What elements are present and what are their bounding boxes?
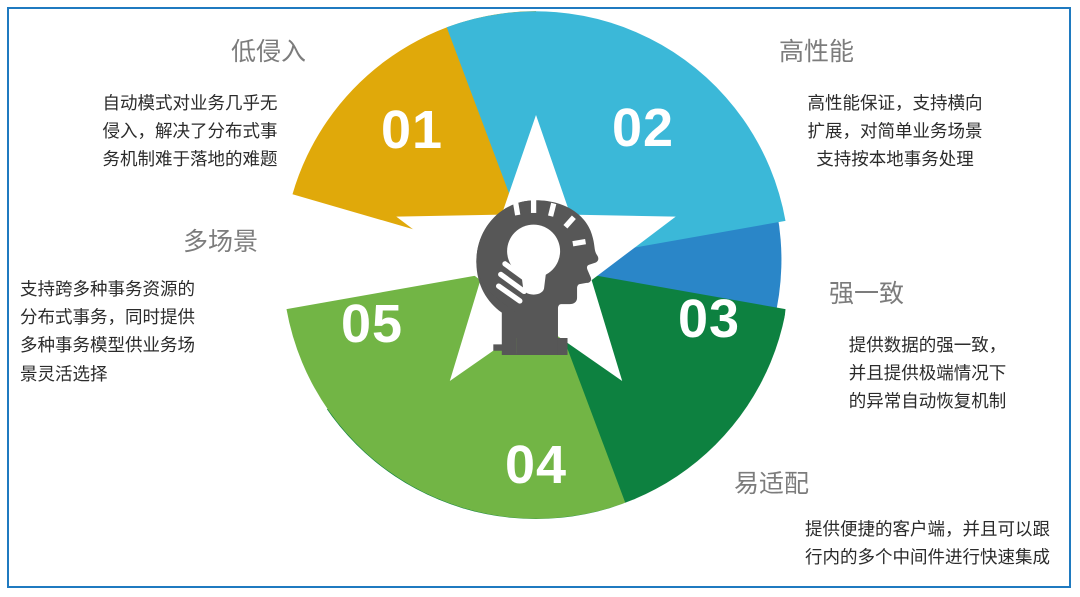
callout-body-low-intrusion: 自动模式对业务几乎无 侵入，解决了分布式事 务机制难于落地的难题	[40, 89, 340, 174]
callout-body-high-performance: 高性能保证，支持横向 扩展，对简单业务场景 支持按本地事务处理	[745, 89, 1045, 174]
wheel-number-01: 01	[381, 100, 443, 160]
callout-heading-easy-adaptation: 易适配	[700, 470, 1050, 499]
callout-body-strong-consistency: 提供数据的强一致， 并且提供极端情况下 的异常自动恢复机制	[795, 331, 1060, 416]
wheel-number-05: 05	[341, 294, 403, 354]
callout-heading-strong-consistency: 强一致	[795, 280, 1060, 309]
wheel-number-03: 03	[678, 289, 740, 349]
callout-heading-high-performance: 高性能	[745, 38, 1045, 67]
wheel-number-04: 04	[505, 435, 567, 495]
callout-body-easy-adaptation: 提供便捷的客户端，并且可以跟 行内的多个中间件进行快速集成	[700, 515, 1050, 572]
callout-low-intrusion: 低侵入 自动模式对业务几乎无 侵入，解决了分布式事 务机制难于落地的难题	[40, 38, 340, 174]
callout-easy-adaptation: 易适配 提供便捷的客户端，并且可以跟 行内的多个中间件进行快速集成	[700, 470, 1050, 571]
callout-body-multi-scenario: 支持跨多种事务资源的 分布式事务，同时提供 多种事务模型供业务场 景灵活选择	[20, 275, 292, 388]
wheel-number-02: 02	[612, 98, 674, 158]
callout-high-performance: 高性能 高性能保证，支持横向 扩展，对简单业务场景 支持按本地事务处理	[745, 38, 1045, 174]
callout-strong-consistency: 强一致 提供数据的强一致， 并且提供极端情况下 的异常自动恢复机制	[795, 280, 1060, 416]
callout-heading-low-intrusion: 低侵入	[40, 38, 340, 67]
callout-multi-scenario: 多场景 支持跨多种事务资源的 分布式事务，同时提供 多种事务模型供业务场 景灵活…	[20, 228, 292, 388]
infographic-stage: 01 02 03 04 05	[0, 0, 1080, 597]
callout-heading-multi-scenario: 多场景	[20, 228, 292, 257]
